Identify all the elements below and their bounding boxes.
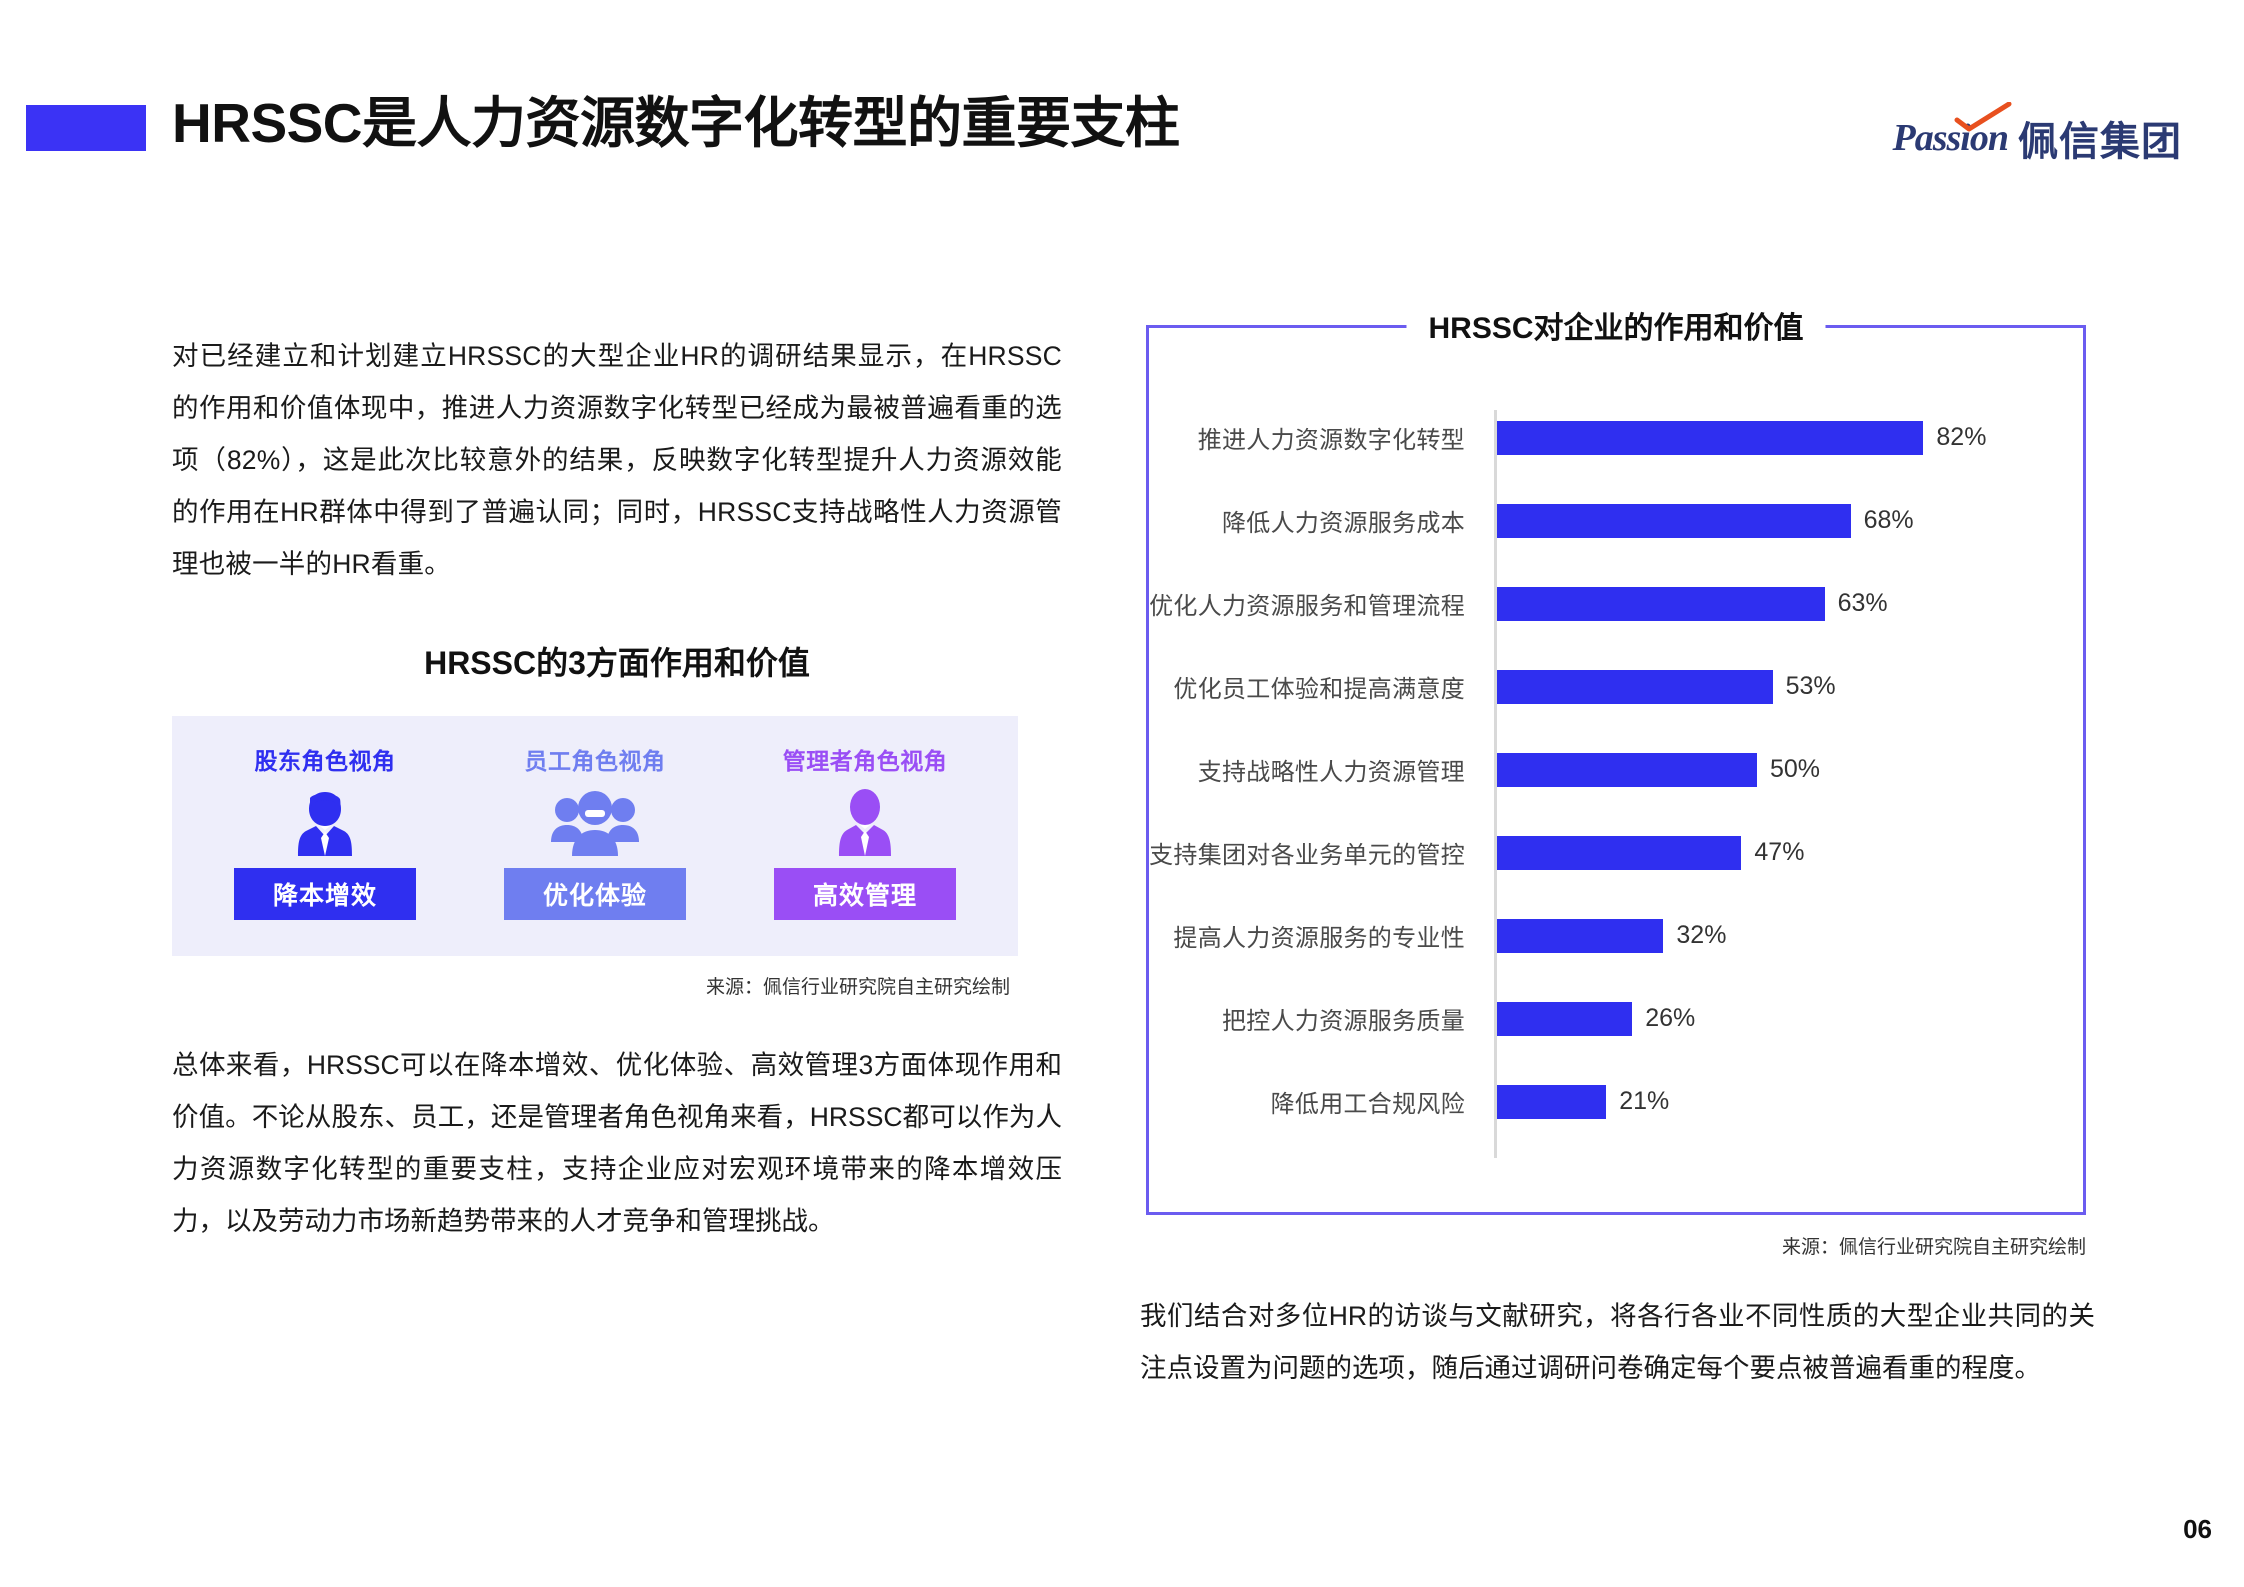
- chart-bar-value: 47%: [1754, 838, 1804, 867]
- chart-bar-row: 支持集团对各业务单元的管控47%: [1149, 811, 2057, 894]
- chart-bar-value: 26%: [1645, 1004, 1695, 1033]
- chart-bar-value: 21%: [1619, 1087, 1669, 1116]
- chart-bar-label: 降低人力资源服务成本: [1149, 503, 1481, 538]
- infographic-title: HRSSC的3方面作用和价值: [172, 638, 1062, 684]
- info-column-manager: 管理者角色视角 高效管理: [730, 742, 1000, 934]
- chart-bars-container: 推进人力资源数字化转型82%降低人力资源服务成本68%优化人力资源服务和管理流程…: [1149, 396, 2057, 1143]
- chart-bar-label: 提高人力资源服务的专业性: [1149, 918, 1481, 953]
- infographic-panel: 股东角色视角 降本增效 员工角色视角: [172, 716, 1018, 956]
- chart-bar-value: 63%: [1838, 589, 1888, 618]
- chart-bar-fill: [1497, 836, 1741, 870]
- chart-bar-label: 把控人力资源服务质量: [1149, 1001, 1481, 1036]
- chart-title: HRSSC对企业的作用和价值: [1406, 303, 1825, 347]
- chart-bar-row: 优化人力资源服务和管理流程63%: [1149, 562, 2057, 645]
- check-mark-icon: [1953, 102, 2013, 132]
- chart-bar-row: 降低用工合规风险21%: [1149, 1060, 2057, 1143]
- chart-bar-row: 降低人力资源服务成本68%: [1149, 479, 2057, 562]
- person-tie-icon: [294, 788, 356, 858]
- page-title: HRSSC是人力资源数字化转型的重要支柱: [172, 78, 1180, 158]
- left-content-column: 对已经建立和计划建立HRSSC的大型企业HR的调研结果显示，在HRSSC的作用和…: [172, 330, 1062, 1247]
- chart-bar-label: 降低用工合规风险: [1149, 1084, 1481, 1119]
- chart-bar-label: 支持战略性人力资源管理: [1149, 752, 1481, 787]
- chart-bar-row: 把控人力资源服务质量26%: [1149, 977, 2057, 1060]
- chart-bar-value: 82%: [1936, 423, 1986, 452]
- chart-bar-row: 支持战略性人力资源管理50%: [1149, 728, 2057, 811]
- left-source-note: 来源：佩信行业研究院自主研究绘制: [172, 972, 1018, 999]
- chart-bar-value: 68%: [1864, 506, 1914, 535]
- chart-bar-label: 支持集团对各业务单元的管控: [1149, 835, 1481, 870]
- summary-paragraph: 总体来看，HRSSC可以在降本增效、优化体验、高效管理3方面体现作用和价值。不论…: [172, 1039, 1062, 1247]
- chart-source-note: 来源：佩信行业研究院自主研究绘制: [1146, 1232, 2086, 1259]
- chart-bar-fill: [1497, 421, 1923, 455]
- info-column-head: 股东角色视角: [255, 742, 396, 776]
- info-column-employee: 员工角色视角 优化体验: [460, 742, 730, 934]
- people-group-icon: [549, 788, 641, 858]
- chart-bar-track: 82%: [1481, 396, 2057, 479]
- chart-bar-fill: [1497, 919, 1663, 953]
- page-number: 06: [2183, 1514, 2212, 1545]
- chart-bar-track: 53%: [1481, 645, 2057, 728]
- logo-wordmark-en: Passion: [1893, 116, 2008, 160]
- person-manager-icon: [837, 788, 893, 858]
- info-button-experience[interactable]: 优化体验: [504, 868, 686, 920]
- chart-bar-fill: [1497, 504, 1851, 538]
- chart-bar-fill: [1497, 587, 1825, 621]
- chart-bar-row: 提高人力资源服务的专业性32%: [1149, 894, 2057, 977]
- chart-bar-value: 53%: [1786, 672, 1836, 701]
- chart-bar-value: 50%: [1770, 755, 1820, 784]
- chart-bar-value: 32%: [1676, 921, 1726, 950]
- company-logo: Passion 佩信集团: [1893, 112, 2182, 164]
- info-column-head: 管理者角色视角: [783, 742, 948, 776]
- chart-panel: HRSSC对企业的作用和价值 推进人力资源数字化转型82%降低人力资源服务成本6…: [1146, 325, 2086, 1215]
- chart-bar-track: 47%: [1481, 811, 2057, 894]
- chart-bar-label: 优化员工体验和提高满意度: [1149, 669, 1481, 704]
- chart-bar-label: 推进人力资源数字化转型: [1149, 420, 1481, 455]
- methodology-paragraph: 我们结合对多位HR的访谈与文献研究，将各行各业不同性质的大型企业共同的关注点设置…: [1140, 1290, 2095, 1394]
- chart-bar-label: 优化人力资源服务和管理流程: [1149, 586, 1481, 621]
- title-accent-bar: [26, 105, 146, 151]
- chart-bar-fill: [1497, 753, 1757, 787]
- chart-bar-track: 63%: [1481, 562, 2057, 645]
- chart-bar-fill: [1497, 670, 1773, 704]
- chart-bar-track: 21%: [1481, 1060, 2057, 1143]
- intro-paragraph: 对已经建立和计划建立HRSSC的大型企业HR的调研结果显示，在HRSSC的作用和…: [172, 330, 1062, 590]
- chart-bar-fill: [1497, 1002, 1632, 1036]
- chart-bar-track: 50%: [1481, 728, 2057, 811]
- info-column-shareholder: 股东角色视角 降本增效: [190, 742, 460, 934]
- logo-wordmark-cn: 佩信集团: [2018, 109, 2182, 167]
- info-column-head: 员工角色视角: [525, 742, 666, 776]
- info-button-cost-efficiency[interactable]: 降本增效: [234, 868, 416, 920]
- chart-bar-track: 26%: [1481, 977, 2057, 1060]
- slide-page: HRSSC是人力资源数字化转型的重要支柱 Passion 佩信集团 对已经建立和…: [0, 0, 2244, 1587]
- chart-bar-track: 68%: [1481, 479, 2057, 562]
- chart-bar-row: 优化员工体验和提高满意度53%: [1149, 645, 2057, 728]
- chart-plot-area: 推进人力资源数字化转型82%降低人力资源服务成本68%优化人力资源服务和管理流程…: [1149, 396, 2083, 1186]
- info-button-management[interactable]: 高效管理: [774, 868, 956, 920]
- chart-bar-track: 32%: [1481, 894, 2057, 977]
- chart-bar-row: 推进人力资源数字化转型82%: [1149, 396, 2057, 479]
- chart-bar-fill: [1497, 1085, 1606, 1119]
